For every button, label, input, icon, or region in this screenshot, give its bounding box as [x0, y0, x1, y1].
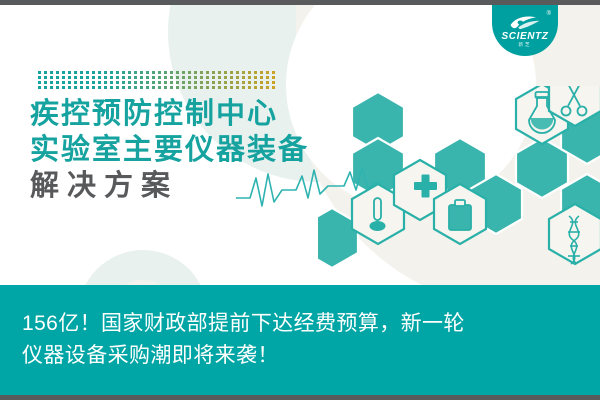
dot-grid-cell — [86, 76, 89, 79]
dot-grid-cell — [236, 71, 239, 74]
dot-grid-cell — [266, 86, 269, 89]
dot-grid-cell — [242, 71, 245, 74]
dot-grid-cell — [152, 86, 155, 89]
dot-grid-cell — [248, 81, 251, 84]
dot-grid-cell — [230, 71, 233, 74]
dot-grid-cell — [224, 81, 227, 84]
dot-grid-cell — [86, 81, 89, 84]
dot-grid-cell — [146, 76, 149, 79]
dot-grid-cell — [98, 86, 101, 89]
banner-line-1: 156亿！国家财政部提前下达经费预算，新一轮 — [22, 308, 600, 340]
dot-grid-cell — [158, 76, 161, 79]
dot-grid-cell — [206, 86, 209, 89]
dot-grid-cell — [134, 86, 137, 89]
dot-grid-cell — [158, 86, 161, 89]
dot-grid-cell — [200, 86, 203, 89]
dot-grid-cell — [194, 76, 197, 79]
dot-grid-cell — [86, 86, 89, 89]
banner-line-2: 仪器设备采购潮即将来袭！ — [22, 340, 600, 372]
dot-grid-cell — [200, 76, 203, 79]
dot-grid-cell — [86, 71, 89, 74]
dot-grid-cell — [80, 76, 83, 79]
dot-grid-cell — [176, 71, 179, 74]
dot-grid-cell — [188, 86, 191, 89]
dot-grid-cell — [104, 81, 107, 84]
dot-grid-cell — [110, 86, 113, 89]
top-edge-rule — [0, 0, 600, 5]
poster-canvas: 疾控预防控制中心 实验室主要仪器装备 解决方案 ® SCIENTZ 新芝 156… — [0, 0, 600, 400]
headline-line-1: 疾控预防控制中心 — [30, 96, 309, 132]
dot-grid-cell — [122, 86, 125, 89]
dot-grid-cell — [230, 81, 233, 84]
dot-grid-cell — [92, 76, 95, 79]
dot-grid-cell — [128, 81, 131, 84]
dot-grid-cell — [254, 71, 257, 74]
dot-grid-cell — [80, 86, 83, 89]
dot-grid-cell — [224, 71, 227, 74]
dot-grid-cell — [50, 86, 53, 89]
dot-grid-cell — [176, 81, 179, 84]
headline-block: 疾控预防控制中心 实验室主要仪器装备 解决方案 — [30, 96, 309, 204]
dot-grid-cell — [68, 71, 71, 74]
dot-grid-cell — [230, 76, 233, 79]
dot-grid-cell — [272, 86, 275, 89]
dot-grid-cell — [50, 71, 53, 74]
dot-grid-cell — [212, 76, 215, 79]
dot-grid-cell — [38, 76, 41, 79]
dot-grid-cell — [254, 86, 257, 89]
dot-grid-cell — [218, 86, 221, 89]
brand-chinese-name: 新芝 — [519, 42, 532, 48]
dot-grid-cell — [80, 71, 83, 74]
dot-grid-cell — [74, 81, 77, 84]
bottom-edge-rule — [0, 395, 600, 400]
dot-grid-cell — [152, 71, 155, 74]
dot-grid-cell — [152, 76, 155, 79]
dot-grid-cell — [158, 81, 161, 84]
dot-grid-cell — [110, 71, 113, 74]
dot-grid-cell — [56, 81, 59, 84]
dot-grid-cell — [212, 71, 215, 74]
dot-grid-cell — [38, 71, 41, 74]
dot-grid-cell — [104, 86, 107, 89]
dot-grid-cell — [74, 86, 77, 89]
dot-grid-cell — [92, 71, 95, 74]
dot-grid-cell — [224, 86, 227, 89]
dot-grid-cell — [236, 81, 239, 84]
dot-grid-cell — [248, 71, 251, 74]
dot-grid-cell — [116, 86, 119, 89]
dot-grid-cell — [260, 81, 263, 84]
dot-grid-cell — [68, 86, 71, 89]
dot-grid-cell — [170, 81, 173, 84]
dot-grid-cell — [62, 76, 65, 79]
dot-grid-cell — [38, 86, 41, 89]
dot-grid-cell — [248, 76, 251, 79]
dot-grid-cell — [140, 76, 143, 79]
dot-grid-cell — [212, 81, 215, 84]
dot-grid-cell — [80, 81, 83, 84]
dot-grid-cell — [182, 71, 185, 74]
dot-grid-cell — [62, 86, 65, 89]
dot-grid-cell — [170, 86, 173, 89]
dot-grid-cell — [236, 76, 239, 79]
dot-grid-cell — [170, 71, 173, 74]
dot-grid-cell — [110, 81, 113, 84]
dot-grid-cell — [152, 81, 155, 84]
dot-grid-cell — [62, 71, 65, 74]
registered-mark-icon: ® — [547, 11, 551, 17]
dot-grid-cell — [164, 86, 167, 89]
dot-grid-cell — [74, 76, 77, 79]
dot-grid-cell — [44, 76, 47, 79]
dot-grid-cell — [206, 71, 209, 74]
dot-grid-cell — [230, 86, 233, 89]
dot-grid-cell — [128, 76, 131, 79]
dot-grid-cell — [56, 71, 59, 74]
dot-grid-cell — [146, 81, 149, 84]
dot-grid-cell — [266, 76, 269, 79]
dot-grid-cell — [50, 81, 53, 84]
dot-grid-cell — [254, 81, 257, 84]
swoosh-wave-icon — [508, 14, 542, 31]
dot-grid-cell — [188, 76, 191, 79]
dot-grid-cell — [200, 71, 203, 74]
dot-grid-cell — [146, 86, 149, 89]
dot-grid-cell — [92, 81, 95, 84]
headline-line-2: 实验室主要仪器装备 — [30, 132, 309, 168]
dot-grid-cell — [260, 86, 263, 89]
dot-grid-cell — [92, 86, 95, 89]
dot-grid-cell — [104, 76, 107, 79]
dot-grid-cell — [194, 86, 197, 89]
dot-grid-cell — [248, 86, 251, 89]
dot-grid-cell — [140, 81, 143, 84]
dot-grid-cell — [176, 86, 179, 89]
dot-grid-cell — [44, 86, 47, 89]
dot-grid-cell — [260, 76, 263, 79]
dot-grid-cell — [224, 76, 227, 79]
dot-grid-cell — [236, 86, 239, 89]
dot-grid-cell — [164, 71, 167, 74]
dot-grid-cell — [38, 81, 41, 84]
dot-grid-cell — [116, 71, 119, 74]
dot-grid-cell — [242, 81, 245, 84]
dot-grid-cell — [266, 81, 269, 84]
dot-grid-cell — [122, 81, 125, 84]
dot-grid-cell — [56, 76, 59, 79]
dot-grid-cell — [140, 86, 143, 89]
dot-grid-cell — [116, 81, 119, 84]
dot-grid-cell — [218, 71, 221, 74]
dot-grid-cell — [68, 81, 71, 84]
dot-grid-cell — [134, 81, 137, 84]
dot-grid-cell — [260, 71, 263, 74]
headline-line-3: 解决方案 — [30, 168, 309, 204]
dot-grid-cell — [134, 76, 137, 79]
dot-grid-cell — [74, 71, 77, 74]
dot-grid-cell — [146, 71, 149, 74]
announcement-banner: 156亿！国家财政部提前下达经费预算，新一轮 仪器设备采购潮即将来袭！ — [0, 285, 600, 395]
dot-grid-cell — [206, 76, 209, 79]
dot-grid-cell — [44, 71, 47, 74]
dot-grid-cell — [188, 71, 191, 74]
dot-grid-cell — [182, 81, 185, 84]
dot-grid-cell — [188, 81, 191, 84]
dot-grid-cell — [98, 71, 101, 74]
dot-grid-cell — [104, 71, 107, 74]
dot-grid-cell — [164, 81, 167, 84]
brand-wordmark: SCIENTZ — [502, 32, 549, 42]
dot-grid-cell — [164, 76, 167, 79]
dot-grid-cell — [68, 76, 71, 79]
dot-grid-cell — [218, 81, 221, 84]
dot-grid-cell — [62, 81, 65, 84]
dot-grid-cell — [44, 81, 47, 84]
dot-grid-cell — [272, 71, 275, 74]
dot-grid-cell — [122, 76, 125, 79]
dot-grid-cell — [128, 71, 131, 74]
dot-grid-cell — [116, 76, 119, 79]
dot-grid-decoration — [36, 70, 276, 90]
dot-grid-cell — [158, 71, 161, 74]
dot-grid-cell — [242, 86, 245, 89]
dot-grid-cell — [98, 81, 101, 84]
dot-grid-cell — [182, 76, 185, 79]
dot-grid-cell — [266, 71, 269, 74]
dot-grid-cell — [272, 81, 275, 84]
dot-grid-cell — [134, 71, 137, 74]
dot-grid-cell — [242, 76, 245, 79]
dot-grid-cell — [200, 81, 203, 84]
dot-grid-cell — [122, 71, 125, 74]
dot-grid-cell — [98, 76, 101, 79]
dot-grid-cell — [170, 76, 173, 79]
dot-grid-cell — [194, 71, 197, 74]
clipboard-icon — [449, 200, 471, 230]
dot-grid-cell — [128, 86, 131, 89]
dot-grid-cell — [212, 86, 215, 89]
dot-grid-cell — [110, 76, 113, 79]
dot-grid-cell — [182, 86, 185, 89]
dot-grid-cell — [140, 71, 143, 74]
dot-grid-cell — [176, 76, 179, 79]
dot-grid-cell — [194, 81, 197, 84]
dot-grid-cell — [206, 81, 209, 84]
dot-grid-cell — [56, 86, 59, 89]
dot-grid-cell — [218, 76, 221, 79]
dot-grid-cell — [50, 76, 53, 79]
dot-grid-cell — [272, 76, 275, 79]
dot-grid-cell — [254, 76, 257, 79]
